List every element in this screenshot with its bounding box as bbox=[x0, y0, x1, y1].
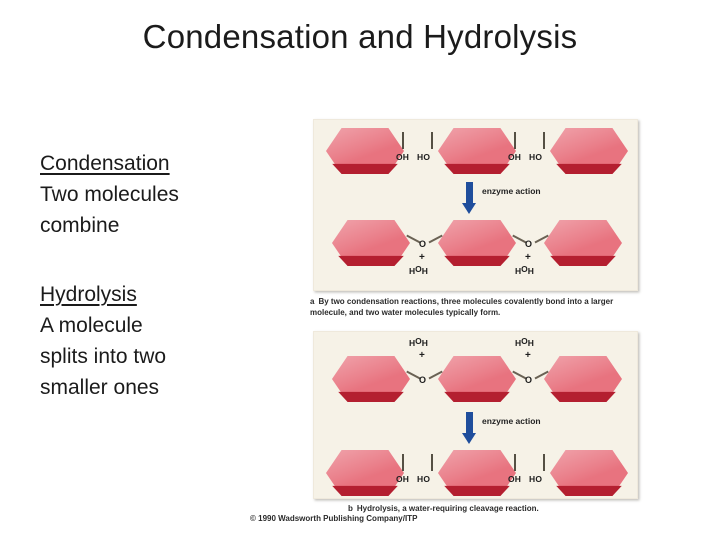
molecule-hexagon bbox=[550, 128, 628, 174]
bond-stub bbox=[431, 132, 433, 149]
atom-label-oh-a1: OH bbox=[396, 152, 409, 162]
water-h-right: H bbox=[422, 266, 428, 276]
atom-label-oh-a2: OH bbox=[508, 152, 521, 162]
molecule-hexagon bbox=[438, 356, 516, 402]
molecule-hexagon bbox=[332, 356, 410, 402]
bond-stub bbox=[402, 132, 404, 149]
page-title: Condensation and Hydrolysis bbox=[0, 18, 720, 56]
bond-stub bbox=[514, 454, 516, 471]
figure-illustration: OH HO OH HO enzyme action bbox=[248, 115, 668, 525]
atom-label-ho-b2: HO bbox=[529, 474, 542, 484]
atom-label-oh-b2: OH bbox=[508, 474, 521, 484]
arrow-shaft bbox=[466, 412, 473, 434]
water-oxygen: O bbox=[521, 336, 528, 346]
bond-stub bbox=[431, 454, 433, 471]
molecule-hexagon bbox=[438, 128, 516, 174]
caption-text-a: By two condensation reactions, three mol… bbox=[310, 297, 613, 317]
caption-letter-b: b bbox=[348, 504, 353, 513]
bridging-oxygen-a1: O bbox=[419, 239, 426, 249]
molecule-hexagon bbox=[438, 450, 516, 496]
panel-b-reactant-row: HOH + O HOH + O bbox=[314, 356, 639, 412]
bond-stub bbox=[514, 132, 516, 149]
atom-label-oh-b1: OH bbox=[396, 474, 409, 484]
molecule-hexagon bbox=[544, 220, 622, 266]
molecule-hexagon bbox=[326, 450, 404, 496]
plus-sign-a1: + bbox=[419, 252, 425, 263]
copyright-notice: © 1990 Wadsworth Publishing Company/ITP bbox=[250, 514, 417, 523]
water-h-right: H bbox=[528, 338, 534, 348]
panel-hydrolysis: HOH + O HOH + O enzym bbox=[313, 331, 638, 499]
water-h-right: H bbox=[422, 338, 428, 348]
atom-label-ho-b1: HO bbox=[417, 474, 430, 484]
water-molecule-a2: HOH bbox=[515, 264, 534, 276]
molecule-hexagon bbox=[544, 356, 622, 402]
arrow-head-icon bbox=[462, 203, 476, 214]
bond-stub bbox=[402, 454, 404, 471]
atom-label-ho-a1: HO bbox=[417, 152, 430, 162]
bond-stub bbox=[543, 132, 545, 149]
plus-sign-a2: + bbox=[525, 252, 531, 263]
water-oxygen: O bbox=[521, 264, 528, 274]
molecule-hexagon bbox=[332, 220, 410, 266]
bridging-oxygen-b2: O bbox=[525, 375, 532, 385]
arrow-shaft bbox=[466, 182, 473, 204]
panel-a-product-row: O + HOH O + HOH bbox=[314, 220, 639, 276]
caption-letter-a: a bbox=[310, 297, 314, 306]
molecule-hexagon bbox=[326, 128, 404, 174]
water-oxygen: O bbox=[415, 336, 422, 346]
bridging-oxygen-b1: O bbox=[419, 375, 426, 385]
caption-text-b: Hydrolysis, a water-requiring cleavage r… bbox=[357, 504, 539, 513]
panel-b-product-row: OH HO OH HO bbox=[314, 450, 639, 506]
plus-sign-b1: + bbox=[419, 350, 425, 361]
water-molecule-b1: HOH bbox=[409, 336, 428, 348]
water-oxygen: O bbox=[415, 264, 422, 274]
bond-stub bbox=[543, 454, 545, 471]
plus-sign-b2: + bbox=[525, 350, 531, 361]
molecule-hexagon bbox=[438, 220, 516, 266]
panel-condensation: OH HO OH HO enzyme action bbox=[313, 119, 638, 291]
caption-panel-b: bHydrolysis, a water-requiring cleavage … bbox=[348, 503, 678, 514]
molecule-hexagon bbox=[550, 450, 628, 496]
bridging-oxygen-a2: O bbox=[525, 239, 532, 249]
atom-label-ho-a2: HO bbox=[529, 152, 542, 162]
water-molecule-b2: HOH bbox=[515, 336, 534, 348]
caption-panel-a: aBy two condensation reactions, three mo… bbox=[310, 296, 640, 318]
water-h-right: H bbox=[528, 266, 534, 276]
water-molecule-a1: HOH bbox=[409, 264, 428, 276]
enzyme-action-label-b: enzyme action bbox=[482, 416, 541, 426]
panel-a-reactant-row: OH HO OH HO bbox=[314, 128, 639, 184]
enzyme-action-label-a: enzyme action bbox=[482, 186, 541, 196]
arrow-head-icon bbox=[462, 433, 476, 444]
